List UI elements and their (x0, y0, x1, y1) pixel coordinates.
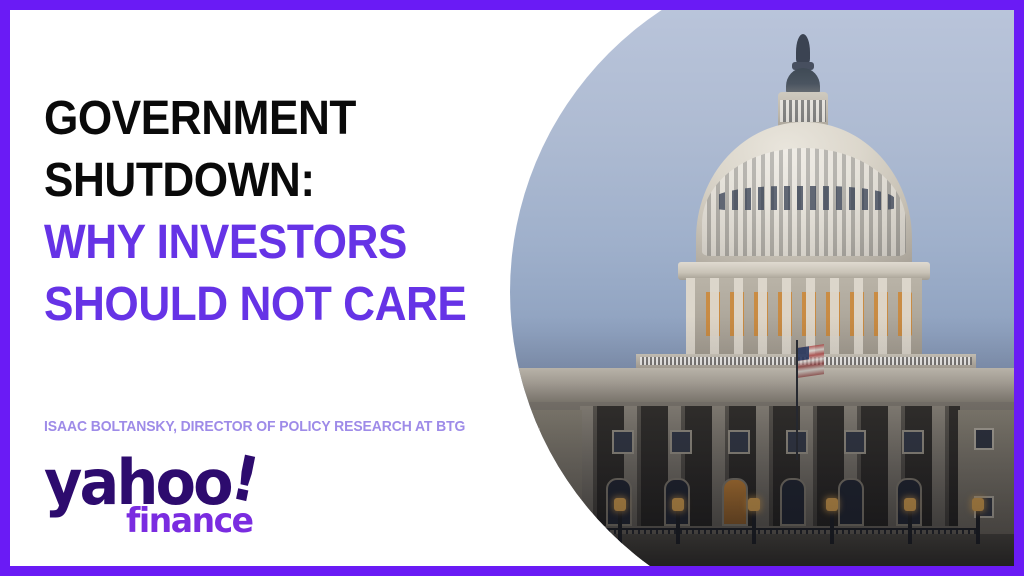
headline-line-3: WHY INVESTORS (44, 212, 458, 274)
headline: GOVERNMENT SHUTDOWN: WHY INVESTORS SHOUL… (44, 88, 494, 336)
dome-peristyle (686, 278, 922, 354)
portico-upper-window (902, 430, 924, 454)
portico-upper-window (612, 430, 634, 454)
wing-window (520, 428, 540, 450)
headline-line-2: SHUTDOWN: (44, 150, 458, 212)
speaker-attribution: ISAAC BOLTANSKY, DIRECTOR OF POLICY RESE… (44, 418, 472, 436)
portico-upper-window (728, 430, 750, 454)
arched-window (780, 478, 806, 526)
capitol-building-illustration (500, 10, 1014, 566)
statue-of-freedom-icon (796, 34, 810, 64)
yahoo-finance-logo[interactable]: yahoo! finance (44, 452, 304, 552)
portico-upper-window (844, 430, 866, 454)
lamp-post (830, 508, 834, 544)
finance-wordmark: finance (126, 504, 253, 538)
arched-window (838, 478, 864, 526)
dome-lantern (786, 68, 820, 94)
sky-background (500, 10, 1014, 566)
left-wing (500, 410, 582, 566)
lamp-post (676, 508, 680, 544)
arched-window-row (592, 478, 948, 526)
headline-line-4: SHOULD NOT CARE (44, 274, 458, 336)
lamp-post (908, 508, 912, 544)
peristyle-columns (686, 278, 922, 354)
circle-photo-mask (500, 10, 1014, 566)
wing-window (520, 496, 540, 518)
headline-line-1: GOVERNMENT (44, 88, 458, 150)
lamp-post (976, 508, 980, 544)
lamp-post (618, 508, 622, 544)
arched-window-lit (722, 478, 748, 526)
capitol-dome (696, 122, 912, 272)
american-flag-icon (798, 344, 824, 378)
terrace-base (500, 534, 1014, 566)
main-entablature (500, 368, 1014, 402)
portico-upper-window (670, 430, 692, 454)
capitol-photo (500, 10, 1014, 566)
lamp-post (752, 508, 756, 544)
text-column: GOVERNMENT SHUTDOWN: WHY INVESTORS SHOUL… (44, 0, 494, 576)
wing-window (974, 428, 994, 450)
video-thumbnail: GOVERNMENT SHUTDOWN: WHY INVESTORS SHOUL… (0, 0, 1024, 576)
